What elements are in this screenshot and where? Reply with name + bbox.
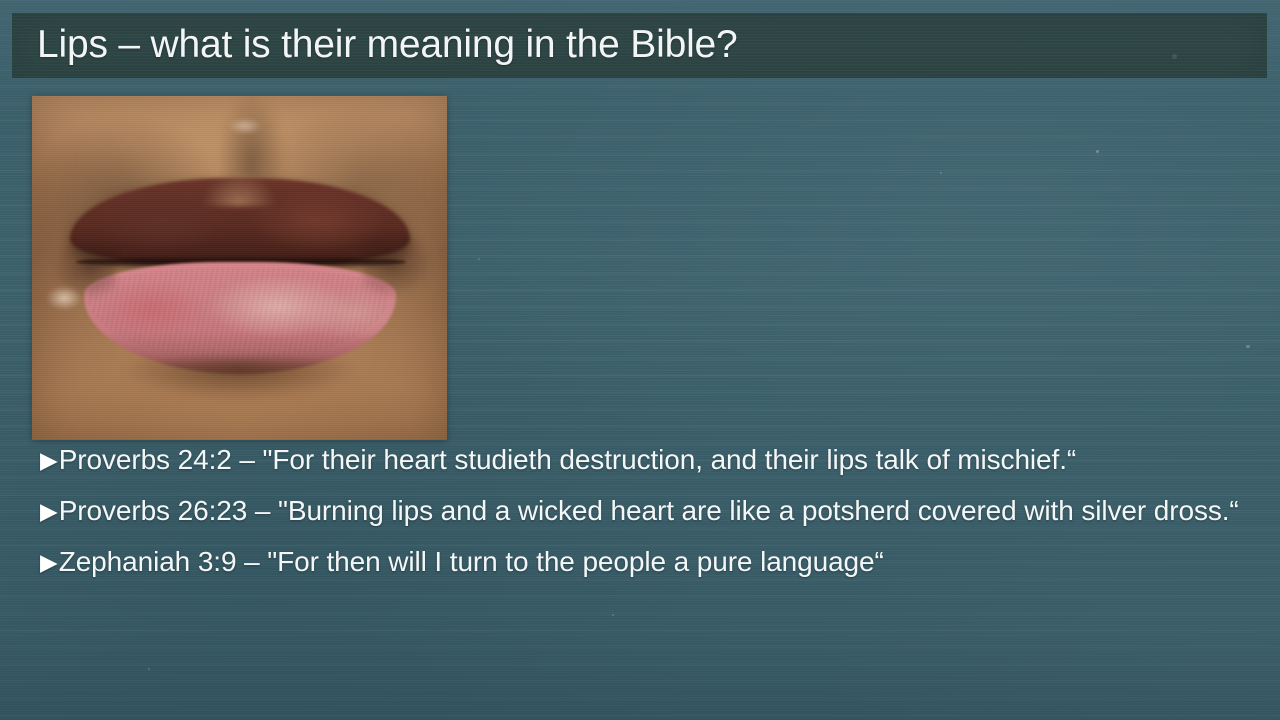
- list-item: ▶ Proverbs 24:2 – "For their heart studi…: [40, 438, 1250, 482]
- list-item: ▶ Proverbs 26:23 – "Burning lips and a w…: [40, 489, 1250, 533]
- texture-speck: [1096, 150, 1099, 153]
- texture-speck: [612, 614, 614, 616]
- triangle-bullet-icon: ▶: [40, 438, 58, 482]
- bullet-list: ▶ Proverbs 24:2 – "For their heart studi…: [40, 438, 1250, 591]
- list-item-text: Zephaniah 3:9 – "For then will I turn to…: [59, 540, 1250, 584]
- texture-speck: [940, 172, 942, 174]
- photo-chin-shadow: [124, 358, 354, 400]
- lips-photo: [32, 96, 447, 440]
- list-item: ▶ Zephaniah 3:9 – "For then will I turn …: [40, 540, 1250, 584]
- presentation-slide: Lips – what is their meaning in the Bibl…: [0, 0, 1280, 720]
- slide-title-bar: Lips – what is their meaning in the Bibl…: [12, 13, 1267, 78]
- page-title: Lips – what is their meaning in the Bibl…: [37, 23, 738, 67]
- photo-cheek-highlight: [46, 286, 82, 310]
- texture-speck: [478, 258, 480, 260]
- triangle-bullet-icon: ▶: [40, 540, 58, 584]
- photo-philtrum-shadow: [217, 96, 287, 180]
- texture-speck: [1246, 345, 1250, 348]
- photo-mouth-corner-right: [363, 238, 433, 298]
- texture-speck: [148, 668, 150, 670]
- photo-cupids-bow: [202, 172, 276, 206]
- triangle-bullet-icon: ▶: [40, 489, 58, 533]
- list-item-text: Proverbs 26:23 – "Burning lips and a wic…: [59, 489, 1250, 533]
- list-item-text: Proverbs 24:2 – "For their heart studiet…: [59, 438, 1250, 482]
- photo-nose-highlight: [228, 118, 262, 134]
